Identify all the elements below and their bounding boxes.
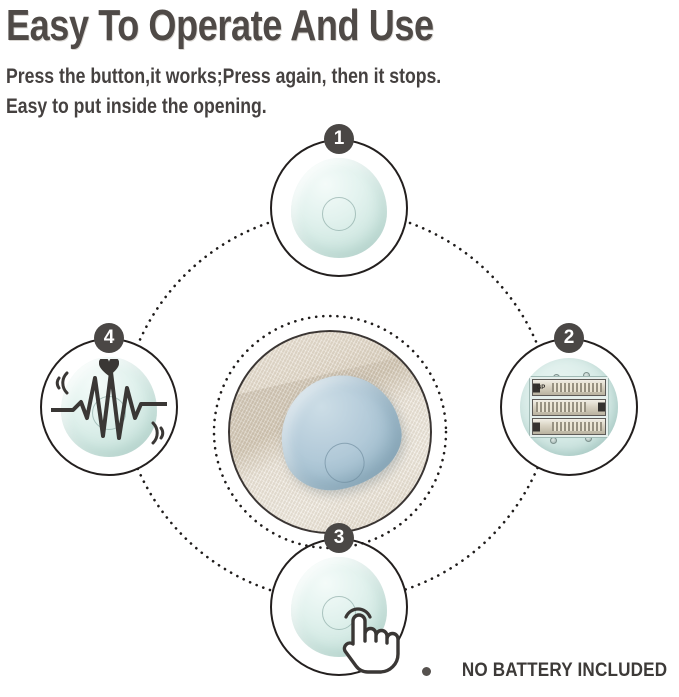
step-2[interactable]: 2 GP [500, 338, 638, 476]
battery-cell: GP [532, 379, 606, 396]
center-hero [228, 330, 432, 534]
battery-well: GP [529, 376, 609, 438]
subtitle-line-1: Press the button,it works;Press again, t… [6, 66, 441, 88]
step-4-number: 4 [94, 323, 124, 353]
step-2-number: 2 [554, 323, 584, 353]
subtitle-line-2: Easy to put inside the opening. [6, 96, 267, 118]
bullet-dot-icon [422, 667, 431, 676]
step-1[interactable]: 1 [270, 139, 408, 277]
step-3-number: 3 [324, 523, 354, 553]
step-1-illustration [287, 156, 391, 260]
mint-egg-device-icon [291, 158, 387, 258]
step-2-illustration: GP [517, 355, 621, 459]
step-1-number: 1 [324, 124, 354, 154]
tap-hand-icon [335, 601, 405, 675]
footer-note: NO BATTERY INCLUDED [422, 661, 667, 681]
battery-cell [532, 399, 606, 416]
steps-diagram: 1 2 GP [0, 118, 679, 697]
step-3-illustration [287, 555, 391, 659]
step-4[interactable]: 4 [40, 338, 178, 476]
page-title: Easy To Operate And Use [6, 2, 434, 50]
vibration-waves-right-icon [147, 419, 173, 447]
no-battery-included-label: NO BATTERY INCLUDED [462, 661, 667, 681]
battery-label-band [536, 402, 586, 412]
battery-compartment-icon: GP [520, 358, 618, 456]
battery-cell [532, 418, 606, 435]
battery-label-band [552, 383, 602, 393]
device-on-fabric-photo [228, 330, 432, 534]
battery-brand-label: GP [537, 385, 546, 391]
device-button-icon [322, 197, 356, 231]
step-3[interactable]: 3 [270, 538, 408, 676]
battery-terminal-icon [533, 422, 540, 431]
step-4-illustration [57, 355, 161, 459]
device-button-icon [321, 439, 369, 487]
screw-icon [550, 437, 557, 444]
vibration-waves-left-icon [47, 369, 73, 397]
battery-terminal-icon [598, 403, 605, 412]
battery-label-band [552, 422, 602, 432]
